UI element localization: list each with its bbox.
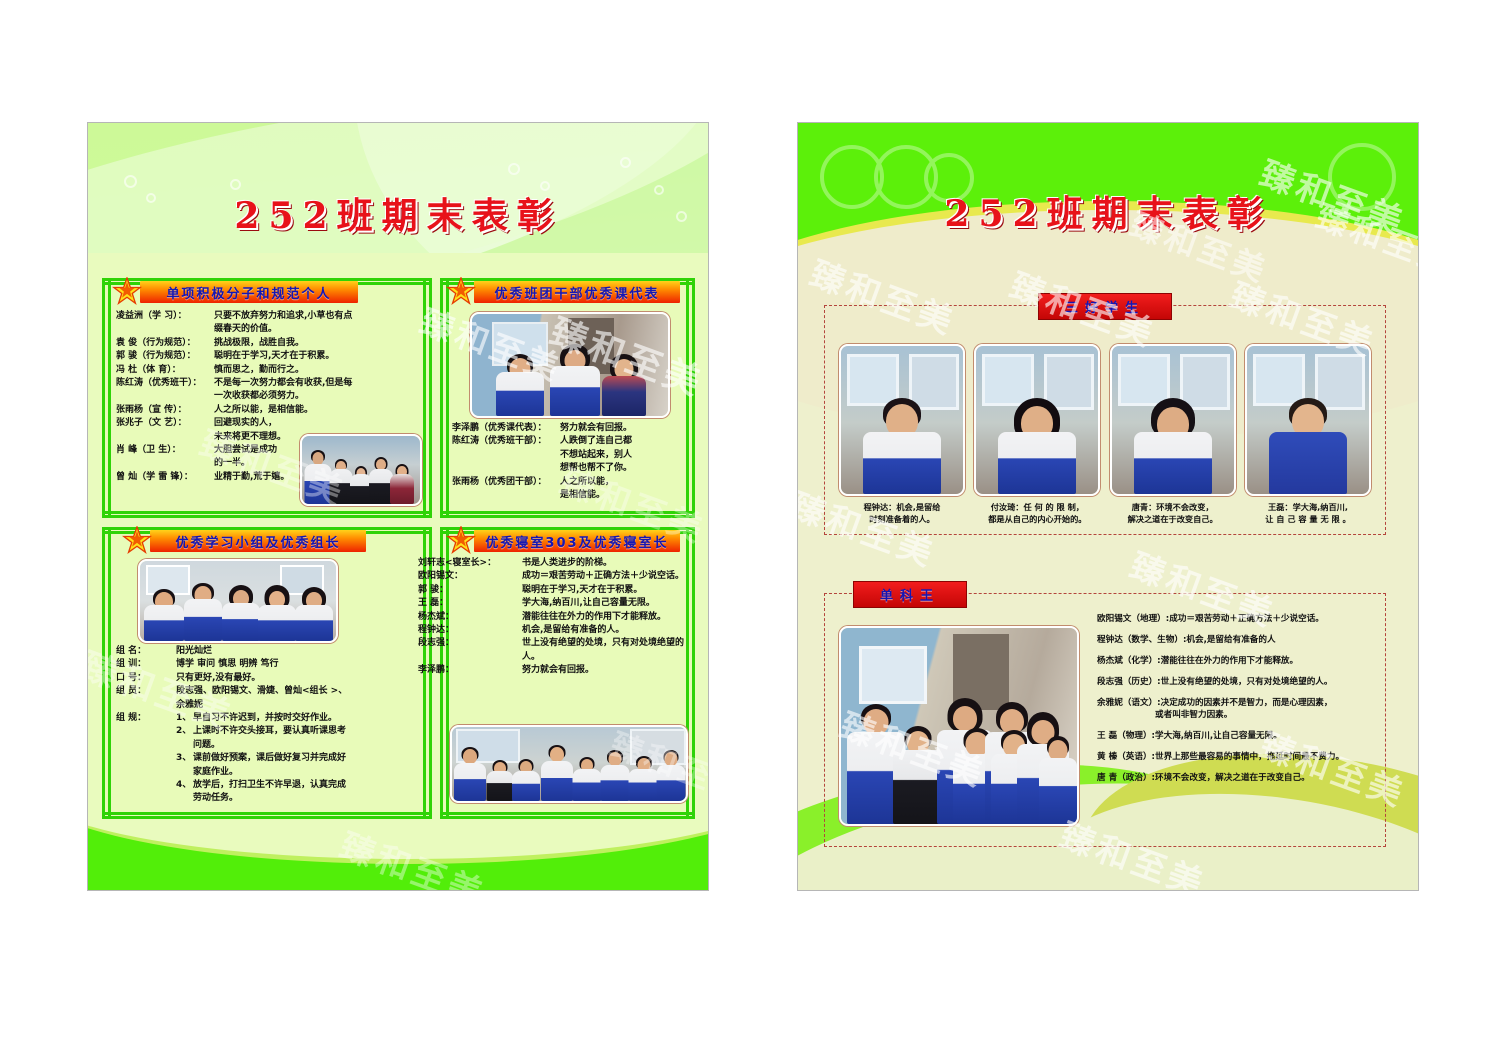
decor-horizontal-bar — [102, 812, 432, 819]
student-card: 王磊：学大海,纳百川,让 自 己 容 量 无 限 。 — [1245, 344, 1371, 525]
entry-quote-cont: 不想站起来，别人 — [560, 449, 685, 462]
poster-canvas: 252班期末表彰 臻和至美 臻和至美 臻和至美 臻和至美 臻和至美 臻和至美 臻… — [0, 0, 1512, 1039]
champion-entry: 唐 青（政治）:环境不会改变，解决之道在于改变自己。 — [1097, 773, 1375, 785]
champion-quote: 环境不会改变，解决之道在于改变自己。 — [1155, 773, 1310, 783]
decor-vertical-bars — [102, 278, 111, 518]
rules-list: 1、早自习不许迟到，并按时交好作业。2、上课时不许交头接耳，要认真听课思考问题。… — [176, 712, 422, 806]
rule-number: 2、 — [176, 725, 193, 738]
champion-entry: 黄 榛（英语）:世界上那些最容易的事情中，拖延时间最不费力。 — [1097, 752, 1375, 764]
field-value: 博学 审问 慎思 明辨 笃行 — [176, 658, 422, 671]
rule-item: 2、上课时不许交头接耳，要认真听课思考 — [176, 725, 422, 738]
champion-quote: 决定成功的因素并不是智力，而是心理因素， — [1161, 698, 1333, 708]
entry-quote: 慎而思之，勤而行之。 — [214, 364, 420, 377]
entry-name: 郭 骏（行为规范）： — [116, 350, 214, 363]
champion-quote-cont: 或者叫非智力因素。 — [1155, 710, 1375, 722]
ring-decor-6 — [620, 157, 631, 168]
entry-name: 刘轩志<寝室长>： — [418, 557, 522, 570]
field-label: 组 训： — [116, 658, 176, 671]
award-entry: 袁 俊（行为规范）：挑战极限，战胜自我。 — [116, 337, 420, 350]
star-burst-icon — [122, 526, 152, 556]
poster-page-right: 252班期末表彰 臻和至美 臻和至美 臻和至美 臻和至美 臻和至美 臻和至美 臻… — [798, 123, 1418, 890]
photo-individual-awards-group — [300, 434, 422, 506]
section-dorm-303: 优秀寝室303及优秀寝室长 刘轩志<寝室长>：书是人类进步的阶梯。欧阳锡文：成功… — [440, 527, 695, 819]
student-portrait-3 — [1110, 344, 1236, 496]
star-burst-icon — [446, 277, 476, 307]
champion-quote: 成功＝艰苦劳动＋正确方法＋少说空话。 — [1169, 614, 1324, 624]
student-portrait-1 — [839, 344, 965, 496]
field-label: 组 员： — [116, 685, 176, 698]
field-value: 段志强、欧阳锡文、滑婕、曾灿<组长 >、 — [176, 685, 422, 698]
caption-line: 付汝琦：任 何 的 限 制， — [974, 502, 1100, 514]
rule-number — [176, 766, 193, 779]
rule-text: 放学后，打扫卫生不许早退，认真完成 — [193, 779, 346, 792]
section-banner-dorm-303: 优秀寝室303及优秀寝室长 — [474, 530, 680, 552]
group-field: 组 训：博学 审问 慎思 明辨 笃行 — [116, 658, 422, 671]
champion-quote: 学大海,纳百川,让自己容量无限。 — [1155, 731, 1282, 741]
rule-number — [176, 792, 193, 805]
student-caption: 唐青：环境不会改变，解决之道在于改变自己。 — [1110, 502, 1236, 525]
rule-number: 3、 — [176, 752, 193, 765]
subject-champions-list: 欧阳锡文（地理）:成功＝艰苦劳动＋正确方法＋少说空话。程钟达（数学、生物）:机会… — [1097, 614, 1375, 794]
entry-name: 李泽鹏（优秀课代表）： — [452, 422, 560, 435]
rule-item: 4、放学后，打扫卫生不许早退，认真完成 — [176, 779, 422, 792]
poster-page-left: 252班期末表彰 臻和至美 臻和至美 臻和至美 臻和至美 臻和至美 臻和至美 臻… — [88, 123, 708, 890]
entry-quote: 成功＝艰苦劳动＋正确方法＋少说空话。 — [522, 570, 689, 583]
decor-horizontal-bar — [440, 511, 695, 518]
award-entry: 欧阳锡文：成功＝艰苦劳动＋正确方法＋少说空话。 — [418, 570, 689, 583]
entry-name: 陈红涛（优秀班干）： — [116, 377, 214, 390]
award-entry: 郭 骏：聪明在于学习,天才在于积累。 — [418, 584, 689, 597]
rule-text: 家庭作业。 — [193, 766, 238, 779]
entry-name: 程钟达： — [418, 624, 522, 637]
student-caption: 付汝琦：任 何 的 限 制，都是从自己的内心开始的。 — [974, 502, 1100, 525]
photo-subject-champions-group — [839, 626, 1079, 826]
banner-label: 优秀班团干部优秀课代表 — [494, 283, 659, 302]
champion-name: 黄 榛（英语）: — [1097, 752, 1155, 762]
photo-dorm-303-group — [450, 725, 688, 803]
page-title-right: 252班期末表彰 — [798, 185, 1418, 237]
champion-entry: 余雅妮（语文）:决定成功的因素并不是智力，而是心理因素，或者叫非智力因素。 — [1097, 698, 1375, 721]
entry-quote-cont: 一次收获都必须努力。 — [214, 390, 420, 403]
entry-quote: 挑战极限，战胜自我。 — [214, 337, 420, 350]
entry-name: 李泽鹏： — [418, 664, 522, 677]
entry-name: 段志强： — [418, 637, 522, 650]
section-individual-awards: 单项积极分子和规范个人 凌益洲（学 习）：只要不放弃努力和追求,小草也有点缀春天… — [102, 278, 432, 518]
entry-quote-cont: 是相信能。 — [560, 489, 685, 502]
champion-name: 程钟达（数学、生物）: — [1097, 635, 1186, 645]
three-good-students-grid: 程钟达：机会,是留给时刻准备着的人。付汝琦：任 何 的 限 制，都是从自己的内心… — [839, 344, 1371, 525]
entry-quote: 人跌倒了连自己都 — [560, 435, 685, 448]
caption-line: 唐青：环境不会改变， — [1110, 502, 1236, 514]
award-entry: 刘轩志<寝室长>：书是人类进步的阶梯。 — [418, 557, 689, 570]
field-value: 阳光灿烂 — [176, 645, 422, 658]
entry-quote: 回避现实的人， — [214, 417, 420, 430]
study-group-fields: 组 名：阳光灿烂组 训：博学 审问 慎思 明辨 笃行口 号：只有更好,没有最好。… — [116, 645, 422, 806]
champion-name: 欧阳锡文（地理）: — [1097, 614, 1169, 624]
award-entry: 李泽鹏（优秀课代表）：努力就会有回报。 — [452, 422, 685, 435]
group-rules: 组 规：1、早自习不许迟到，并按时交好作业。2、上课时不许交头接耳，要认真听课思… — [116, 712, 422, 806]
section-banner-study-group: 优秀学习小组及优秀组长 — [150, 530, 366, 552]
entry-quote: 只要不放弃努力和追求,小草也有点 — [214, 310, 420, 323]
award-entry: 陈红涛（优秀班干部）：人跌倒了连自己都不想站起来，别人想帮也帮不了你。 — [452, 435, 685, 475]
banner-label: 单项积极分子和规范个人 — [166, 283, 331, 302]
champion-name: 王 磊（物理）: — [1097, 731, 1155, 741]
champion-entry: 王 磊（物理）:学大海,纳百川,让自己容量无限。 — [1097, 731, 1375, 743]
rule-number: 4、 — [176, 779, 193, 792]
group-field: 口 号：只有更好,没有最好。 — [116, 672, 422, 685]
entry-name: 曾 灿（学 雷 锋）： — [116, 471, 214, 484]
champion-quote: 机会,是留给有准备的人 — [1186, 635, 1275, 645]
entry-quote-cont: 想帮也帮不了你。 — [560, 462, 685, 475]
entry-name: 郭 骏： — [418, 584, 522, 597]
entry-name: 肖 峰（卫 生）： — [116, 444, 214, 457]
entry-name: 陈红涛（优秀班干部）： — [452, 435, 560, 448]
caption-line: 让 自 己 容 量 无 限 。 — [1245, 514, 1371, 526]
entry-name: 欧阳锡文： — [418, 570, 522, 583]
champion-quote: 世界上那些最容易的事情中，拖延时间最不费力。 — [1155, 752, 1344, 762]
decor-vertical-bars — [102, 527, 111, 819]
entry-name: 张兆子（文 艺）： — [116, 417, 214, 430]
section-banner-individual-awards: 单项积极分子和规范个人 — [140, 281, 358, 303]
rule-text: 劳动任务。 — [193, 792, 238, 805]
dorm-303-list: 刘轩志<寝室长>：书是人类进步的阶梯。欧阳锡文：成功＝艰苦劳动＋正确方法＋少说空… — [418, 557, 689, 678]
left-page-footer-band — [88, 810, 708, 890]
student-caption: 王磊：学大海,纳百川,让 自 己 容 量 无 限 。 — [1245, 502, 1371, 525]
banner-label: 优秀寝室303及优秀寝室长 — [485, 532, 668, 551]
student-card: 唐青：环境不会改变，解决之道在于改变自己。 — [1110, 344, 1236, 525]
decor-vertical-bars — [686, 278, 695, 518]
award-entry: 郭 骏（行为规范）：聪明在于学习,天才在于积累。 — [116, 350, 420, 363]
caption-line: 都是从自己的内心开始的。 — [974, 514, 1100, 526]
rules-label: 组 规： — [116, 712, 176, 725]
banner-label: 单科王 — [880, 589, 940, 604]
photo-class-cadres — [470, 312, 670, 418]
rule-item: 3、课前做好预案，课后做好复习并完成好 — [176, 752, 422, 765]
award-entry: 段志强：世上没有绝望的处境，只有对处境绝望的人。 — [418, 637, 689, 664]
section-class-cadres: 优秀班团干部优秀课代表 李泽鹏（优秀课代表）：努力就会有回报。陈红涛（优秀班干部… — [440, 278, 695, 518]
entry-quote: 努力就会有回报。 — [560, 422, 685, 435]
decor-vertical-bars — [423, 278, 432, 518]
ring-decor-4 — [508, 163, 520, 175]
group-field: 组 员：段志强、欧阳锡文、滑婕、曾灿<组长 >、 — [116, 685, 422, 698]
champion-quote: 潜能往往在外力的作用下才能释放。 — [1161, 656, 1299, 666]
entry-quote: 努力就会有回报。 — [522, 664, 689, 677]
entry-quote: 人之所以能， — [560, 476, 685, 489]
section-banner-subject-champions: 单科王 — [853, 581, 967, 608]
caption-line: 王磊：学大海,纳百川, — [1245, 502, 1371, 514]
entry-quote: 机会,是留给有准备的人。 — [522, 624, 689, 637]
rule-item: 家庭作业。 — [176, 766, 422, 779]
banner-label: 三好学生 — [1065, 301, 1145, 316]
student-card: 程钟达：机会,是留给时刻准备着的人。 — [839, 344, 965, 525]
award-entry: 杨杰斌：潜能往往在外力的作用下才能释放。 — [418, 611, 689, 624]
rule-text: 早自习不许迟到，并按时交好作业。 — [193, 712, 337, 725]
caption-line: 程钟达：机会,是留给 — [839, 502, 965, 514]
rule-item: 问题。 — [176, 739, 422, 752]
page-title-left: 252班期末表彰 — [88, 187, 708, 239]
star-burst-icon — [112, 277, 142, 307]
rule-text: 问题。 — [193, 739, 220, 752]
award-entry: 冯 杜（体 育）：慎而思之，勤而行之。 — [116, 364, 420, 377]
award-entry: 张雨杨（宣 传）：人之所以能，是相信能。 — [116, 404, 420, 417]
champion-quote: 世上没有绝望的处境，只有对处境绝望的人。 — [1161, 677, 1333, 687]
entry-quote: 人之所以能，是相信能。 — [214, 404, 420, 417]
award-entry: 陈红涛（优秀班干）：不是每一次努力都会有收获,但是每一次收获都必须努力。 — [116, 377, 420, 404]
award-entry: 张雨杨（优秀团干部）：人之所以能，是相信能。 — [452, 476, 685, 503]
field-label: 组 名： — [116, 645, 176, 658]
award-entry: 王 磊：学大海,纳百川,让自己容量无限。 — [418, 597, 689, 610]
decor-horizontal-bar — [440, 812, 695, 819]
entry-name: 袁 俊（行为规范）： — [116, 337, 214, 350]
section-banner-three-good-students: 三好学生 — [1038, 293, 1172, 320]
entry-quote: 聪明在于学习,天才在于积累。 — [522, 584, 689, 597]
entry-name: 张雨杨（宣 传）： — [116, 404, 214, 417]
rule-number — [176, 739, 193, 752]
entry-name: 杨杰斌： — [418, 611, 522, 624]
decor-vertical-bars — [440, 278, 449, 518]
student-portrait-2 — [974, 344, 1100, 496]
champion-entry: 程钟达（数学、生物）:机会,是留给有准备的人 — [1097, 635, 1375, 647]
student-card: 付汝琦：任 何 的 限 制，都是从自己的内心开始的。 — [974, 344, 1100, 525]
entry-quote: 聪明在于学习,天才在于积累。 — [214, 350, 420, 363]
entry-name: 王 磊： — [418, 597, 522, 610]
award-entry: 程钟达：机会,是留给有准备的人。 — [418, 624, 689, 637]
field-value: 只有更好,没有最好。 — [176, 672, 422, 685]
rule-item: 劳动任务。 — [176, 792, 422, 805]
student-portrait-4 — [1245, 344, 1371, 496]
entry-quote: 书是人类进步的阶梯。 — [522, 557, 689, 570]
field-label: 口 号： — [116, 672, 176, 685]
champion-name: 余雅妮（语文）: — [1097, 698, 1161, 708]
champion-entry: 段志强（历史）:世上没有绝望的处境，只有对处境绝望的人。 — [1097, 677, 1375, 689]
entry-name: 张雨杨（优秀团干部）： — [452, 476, 560, 489]
entry-quote: 不是每一次努力都会有收获,但是每 — [214, 377, 420, 390]
champion-entry: 欧阳锡文（地理）:成功＝艰苦劳动＋正确方法＋少说空话。 — [1097, 614, 1375, 626]
caption-line: 解决之道在于改变自己。 — [1110, 514, 1236, 526]
section-subject-champions: 单科王 欧阳锡文（地理）:成功＝艰苦劳动＋正确方法＋少说空话。程钟达（数学、生物… — [824, 593, 1386, 847]
class-cadres-list: 李泽鹏（优秀课代表）：努力就会有回报。陈红涛（优秀班干部）：人跌倒了连自己都不想… — [452, 422, 685, 502]
section-study-group: 优秀学习小组及优秀组长 组 名：阳光灿烂组 训：博学 审问 慎思 明辨 笃行口 … — [102, 527, 432, 819]
champion-name: 唐 青（政治）: — [1097, 773, 1155, 783]
banner-label: 优秀学习小组及优秀组长 — [175, 532, 340, 551]
champion-name: 段志强（历史）: — [1097, 677, 1161, 687]
student-caption: 程钟达：机会,是留给时刻准备着的人。 — [839, 502, 965, 525]
rule-item: 1、早自习不许迟到，并按时交好作业。 — [176, 712, 422, 725]
entry-quote-cont: 缀春天的价值。 — [214, 323, 420, 336]
award-entry: 凌益洲（学 习）：只要不放弃努力和追求,小草也有点缀春天的价值。 — [116, 310, 420, 337]
field-value-cont: 余雅妮 — [176, 699, 422, 712]
photo-study-group — [138, 559, 338, 643]
entry-name: 冯 杜（体 育）： — [116, 364, 214, 377]
champion-name: 杨杰斌（化学）: — [1097, 656, 1161, 666]
champion-entry: 杨杰斌（化学）:潜能往往在外力的作用下才能释放。 — [1097, 656, 1375, 668]
decor-horizontal-bar — [102, 511, 432, 518]
star-burst-icon — [446, 526, 476, 556]
rule-number: 1、 — [176, 712, 193, 725]
rule-text: 课前做好预案，课后做好复习并完成好 — [193, 752, 346, 765]
entry-quote: 潜能往往在外力的作用下才能释放。 — [522, 611, 689, 624]
rule-text: 上课时不许交头接耳，要认真听课思考 — [193, 725, 346, 738]
group-field: 组 名：阳光灿烂 — [116, 645, 422, 658]
section-banner-class-cadres: 优秀班团干部优秀课代表 — [474, 281, 680, 303]
entry-quote: 世上没有绝望的处境，只有对处境绝望的人。 — [522, 637, 689, 664]
caption-line: 时刻准备着的人。 — [839, 514, 965, 526]
entry-quote: 学大海,纳百川,让自己容量无限。 — [522, 597, 689, 610]
section-three-good-students: 三好学生 程钟达：机会,是留给时刻准备着的人。付汝琦：任 何 的 限 制，都是从… — [824, 305, 1386, 535]
entry-name: 凌益洲（学 习）： — [116, 310, 214, 323]
award-entry: 李泽鹏：努力就会有回报。 — [418, 664, 689, 677]
